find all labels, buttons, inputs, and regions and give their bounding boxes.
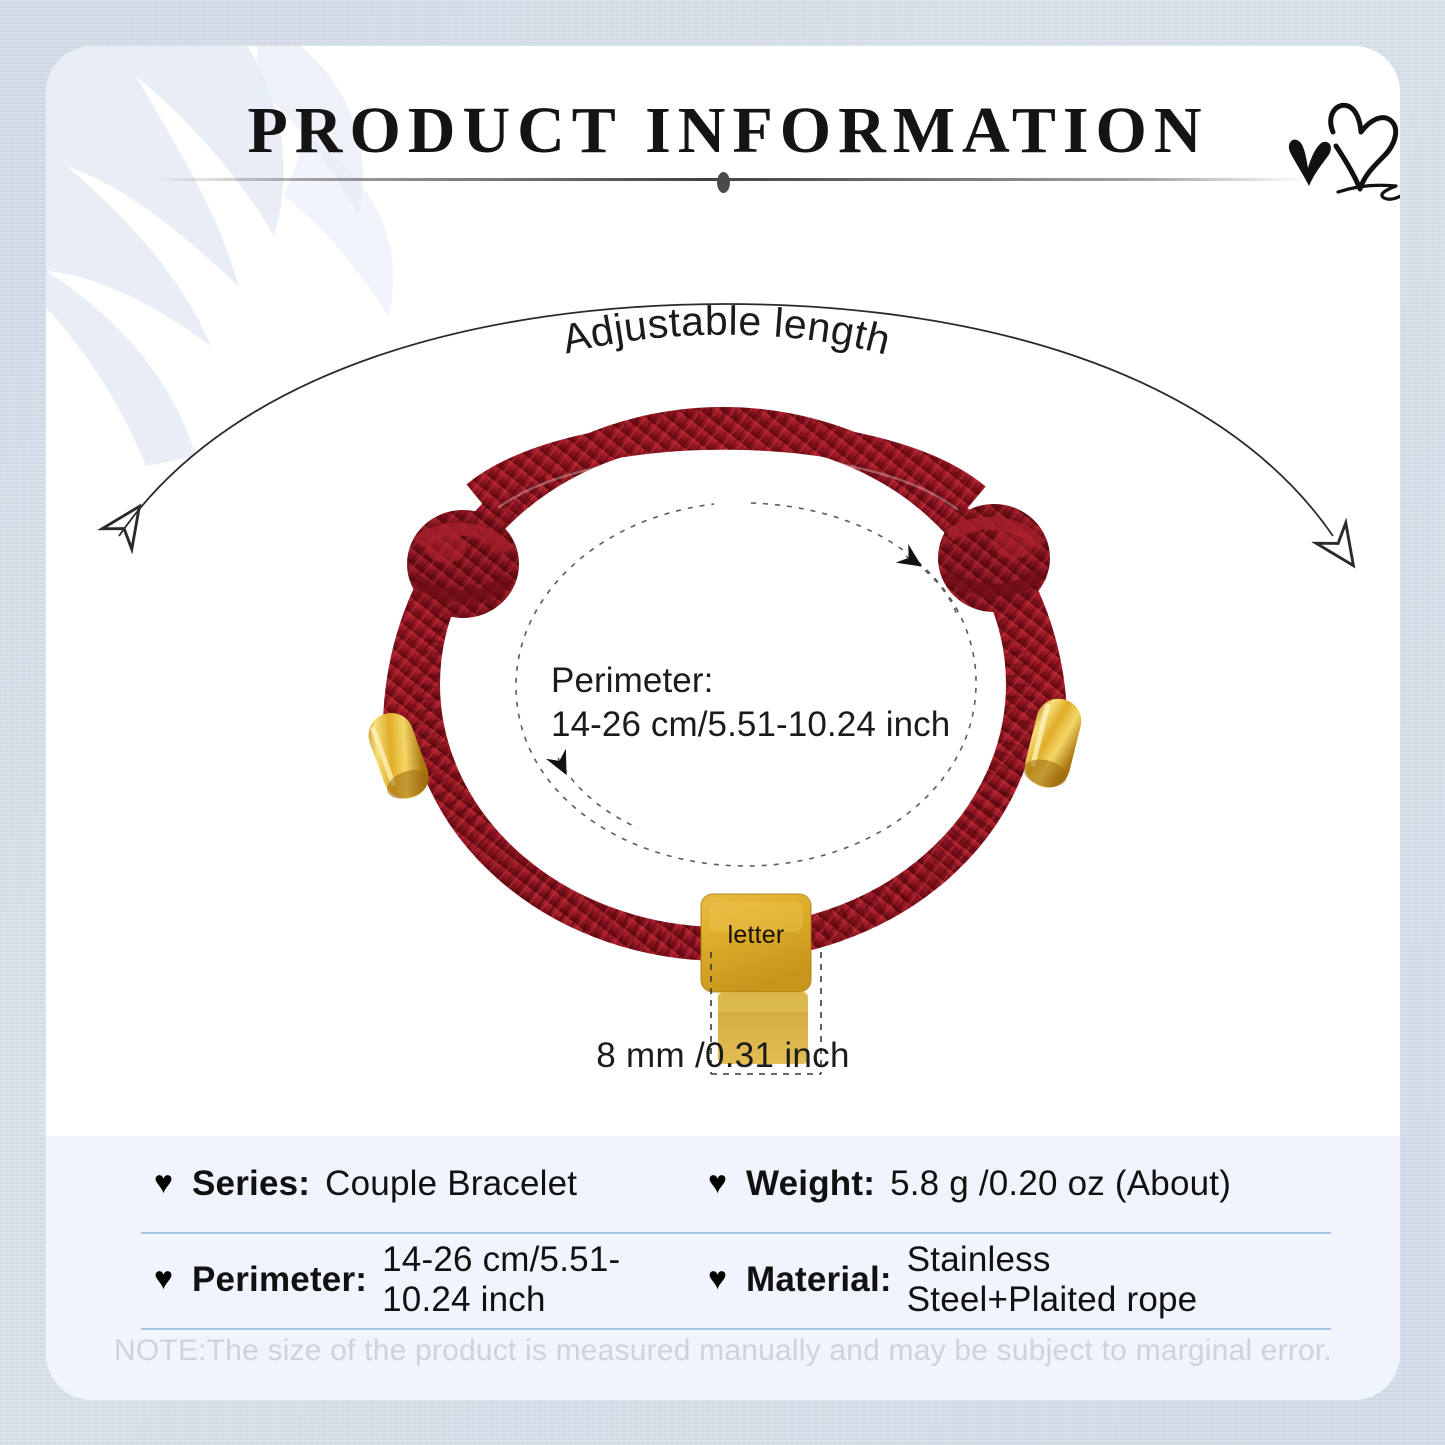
spec-value: Couple Bracelet: [325, 1164, 577, 1204]
heart-bullet-icon: ♥: [154, 1262, 173, 1294]
svg-text:Adjustable length: Adjustable length: [558, 298, 896, 364]
page-background: PRODUCT INFORMATION: [0, 0, 1445, 1445]
heart-bullet-icon: ♥: [708, 1166, 727, 1198]
bead-size-label: 8 mm /0.31 inch: [46, 1036, 1400, 1076]
heart-bullet-icon: ♥: [154, 1166, 173, 1198]
perimeter-callout-label: Perimeter:: [551, 659, 950, 703]
adjustable-length-label: Adjustable length: [558, 298, 896, 364]
spec-key: Material:: [746, 1260, 892, 1300]
spec-item-weight: ♥ Weight: 5.8 g /0.20 oz (About): [646, 1164, 1246, 1204]
page-title-block: PRODUCT INFORMATION: [46, 98, 1400, 164]
spec-divider-2: [141, 1328, 1331, 1330]
perimeter-callout-value: 14-26 cm/5.51-10.24 inch: [551, 703, 950, 747]
page-title: PRODUCT INFORMATION: [46, 98, 1400, 164]
perimeter-callout: Perimeter: 14-26 cm/5.51-10.24 inch: [551, 659, 950, 747]
left-sliding-knot: [407, 510, 519, 618]
footer-note: NOTE:The size of the product is measured…: [46, 1334, 1400, 1368]
spec-value: Stainless Steel+Plaited rope: [907, 1240, 1246, 1320]
right-sliding-knot: [938, 504, 1050, 612]
product-info-card: PRODUCT INFORMATION: [46, 46, 1400, 1400]
spec-item-perimeter: ♥ Perimeter: 14-26 cm/5.51-10.24 inch: [46, 1240, 646, 1320]
hand-drawn-hearts-icon: [1278, 94, 1400, 204]
bead-engraving-label: letter: [701, 921, 811, 950]
spec-value: 5.8 g /0.20 oz (About): [890, 1164, 1231, 1204]
spec-row: ♥ Series: Couple Bracelet ♥ Weight: 5.8 …: [46, 1136, 1400, 1232]
spec-key: Perimeter:: [192, 1260, 367, 1300]
spec-key: Series:: [192, 1164, 310, 1204]
spec-item-material: ♥ Material: Stainless Steel+Plaited rope: [646, 1240, 1246, 1320]
spec-key: Weight:: [746, 1164, 875, 1204]
heart-bullet-icon: ♥: [708, 1262, 727, 1294]
spec-row: ♥ Perimeter: 14-26 cm/5.51-10.24 inch ♥ …: [46, 1232, 1400, 1328]
adjustable-length-label-wrap: Adjustable length: [46, 256, 1400, 446]
title-divider-dot-icon: [717, 172, 730, 193]
spec-item-series: ♥ Series: Couple Bracelet: [46, 1164, 646, 1204]
spec-value: 14-26 cm/5.51-10.24 inch: [382, 1240, 646, 1320]
